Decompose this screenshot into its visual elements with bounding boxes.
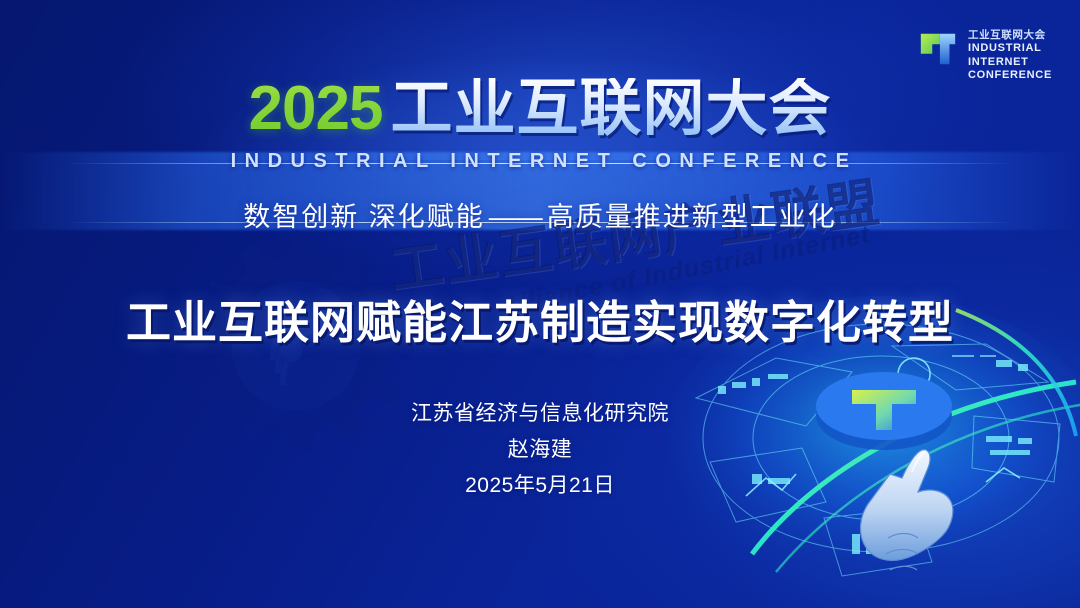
presentation-date: 2025年5月21日 — [0, 468, 1080, 504]
presenter-name: 赵海建 — [0, 432, 1080, 468]
masthead-title-row: 2025 工业互联网大会 — [0, 78, 1080, 140]
presenter-organization: 江苏省经济与信息化研究院 — [0, 396, 1080, 432]
conference-logo: 工业互联网大会 INDUSTRIAL INTERNET CONFERENCE — [917, 28, 1052, 82]
masthead-year: 2025 — [249, 78, 383, 140]
presenter-block: 江苏省经济与信息化研究院 赵海建 2025年5月21日 — [0, 396, 1080, 504]
conference-t-mark-icon — [917, 28, 959, 70]
page-title: 工业互联网赋能江苏制造实现数字化转型 — [0, 286, 1080, 351]
logo-cn-name: 工业互联网大会 — [968, 29, 1052, 42]
masthead-title-cn: 工业互联网大会 — [390, 78, 831, 140]
masthead-slogan: 数智创新 深化赋能——高质量推进新型工业化 — [0, 195, 1080, 234]
masthead-title-en: INDUSTRIAL INTERNET CONFERENCE — [0, 150, 1080, 173]
masthead: 2025 工业互联网大会 INDUSTRIAL INTERNET CONFERE… — [0, 78, 1080, 234]
slogan-dash: —— — [485, 202, 547, 232]
presentation-slide: 工业互联网产业联盟 Alliance of Industrial Interne… — [0, 0, 1080, 608]
logo-en-line2: INTERNET — [968, 56, 1052, 69]
slogan-left: 数智创新 深化赋能 — [243, 202, 485, 232]
slogan-right: 高质量推进新型工业化 — [547, 202, 837, 232]
logo-en-line1: INDUSTRIAL — [968, 42, 1052, 55]
